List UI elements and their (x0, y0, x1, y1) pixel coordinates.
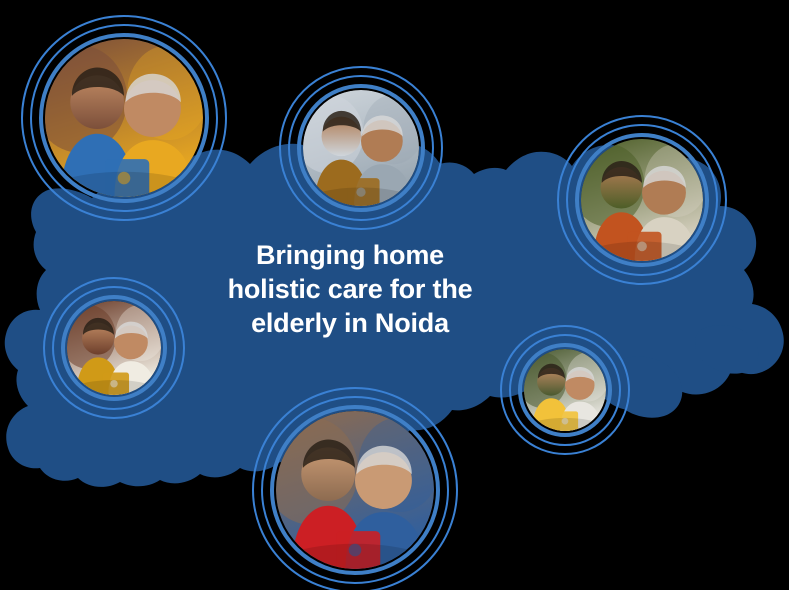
bubble-photo-friends-hands-together (581, 139, 703, 261)
photo-bubble-man-phone-tablet[interactable]: Elderly man in mustard shirt seated in a… (41, 275, 187, 421)
photo-bubble-laughing-couple[interactable]: Elderly couple laughing together, man in… (277, 64, 445, 232)
photo-bubble-caregiver-tablet[interactable]: Caregiver in blue scrubs with elderly wo… (19, 13, 229, 223)
bubble-photo-man-phone-tablet (67, 301, 161, 395)
bubble-photo-laughing-couple (303, 90, 419, 206)
photo-bubble-friends-hands-together[interactable]: Three elderly friends stacking hands tog… (555, 113, 729, 287)
photo-bubble-couple-embrace[interactable]: Elderly couple embracing outdoors, man i… (498, 323, 632, 457)
bubble-photo-caregiver-tablet (45, 39, 203, 197)
hero-banner: Bringing home holistic care for the elde… (0, 0, 789, 590)
photo-bubble-gift-giving[interactable]: Woman in blue handing a red wrapped gift… (250, 385, 460, 590)
bubble-photo-couple-embrace (524, 349, 606, 431)
bubble-photo-gift-giving (276, 411, 434, 569)
